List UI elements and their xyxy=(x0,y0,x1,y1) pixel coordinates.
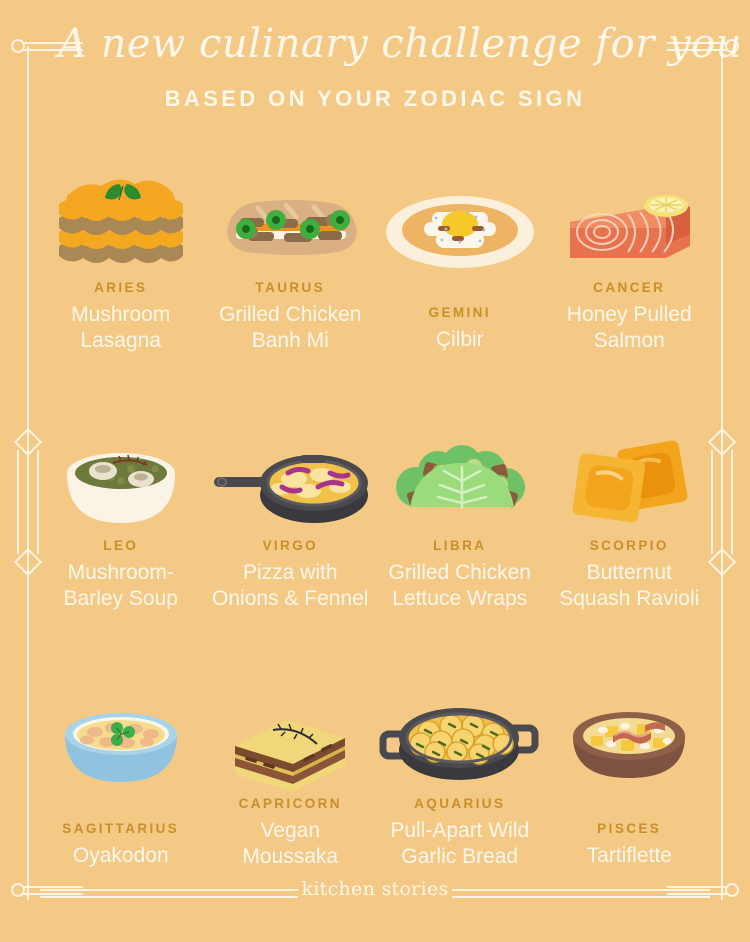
page-subtitle: BASED ON YOUR ZODIAC SIGN xyxy=(0,86,750,112)
zodiac-dish-grid: ARIES Mushroom Lasagna xyxy=(36,168,714,942)
zodiac-card-gemini[interactable]: GEMINI Çilbir xyxy=(375,168,545,426)
dish-line: Vegan xyxy=(210,818,372,844)
dish-line: Pull-Apart Wild xyxy=(379,818,541,844)
footer: kitchen stories xyxy=(0,862,750,918)
tartiflette-icon xyxy=(545,684,715,802)
lasagna-icon xyxy=(36,168,206,286)
dish-name: Pizza with Onions & Fennel xyxy=(206,560,376,612)
card-labels: LEO Mushroom- Barley Soup xyxy=(36,538,206,612)
zodiac-card-taurus[interactable]: TAURUS Grilled Chicken Banh Mi xyxy=(206,168,376,426)
card-labels: SCORPIO Butternut Squash Ravioli xyxy=(545,538,715,612)
zodiac-sign-label: SAGITTARIUS xyxy=(36,821,206,836)
card-labels: AQUARIUS Pull-Apart Wild Garlic Bread xyxy=(375,796,545,870)
dish-line: Lasagna xyxy=(40,328,202,354)
card-labels: GEMINI Çilbir xyxy=(375,305,545,353)
cilbir-icon xyxy=(375,168,545,286)
dish-line: Pizza with xyxy=(210,560,372,586)
zodiac-sign-label: GEMINI xyxy=(375,305,545,320)
ravioli-icon xyxy=(545,426,715,544)
salmon-icon xyxy=(545,168,715,286)
oyakodon-bowl-icon xyxy=(36,684,206,802)
lettuce-wrap-icon xyxy=(375,426,545,544)
zodiac-sign-label: CAPRICORN xyxy=(206,796,376,811)
dish-line: Honey Pulled xyxy=(549,302,711,328)
zodiac-sign-label: AQUARIUS xyxy=(375,796,545,811)
zodiac-card-scorpio[interactable]: SCORPIO Butternut Squash Ravioli xyxy=(545,426,715,684)
dish-name: Grilled Chicken Lettuce Wraps xyxy=(375,560,545,612)
dish-name: Mushroom Lasagna xyxy=(36,302,206,354)
header: A new culinary challenge for you BASED O… xyxy=(0,18,750,112)
zodiac-card-cancer[interactable]: CANCER Honey Pulled Salmon xyxy=(545,168,715,426)
dish-line: Lettuce Wraps xyxy=(379,586,541,612)
card-labels: TAURUS Grilled Chicken Banh Mi xyxy=(206,280,376,354)
dish-line: Grilled Chicken xyxy=(379,560,541,586)
dish-name: Çilbir xyxy=(375,327,545,353)
dish-line: Mushroom xyxy=(40,302,202,328)
zodiac-card-aries[interactable]: ARIES Mushroom Lasagna xyxy=(36,168,206,426)
dish-line: Banh Mi xyxy=(210,328,372,354)
zodiac-sign-label: SCORPIO xyxy=(545,538,715,553)
zodiac-card-libra[interactable]: LIBRA Grilled Chicken Lettuce Wraps xyxy=(375,426,545,684)
card-labels: LIBRA Grilled Chicken Lettuce Wraps xyxy=(375,538,545,612)
dish-line: Barley Soup xyxy=(40,586,202,612)
garlic-bread-pan-icon xyxy=(375,684,545,802)
page-title: A new culinary challenge for you xyxy=(0,18,750,70)
dish-name: Honey Pulled Salmon xyxy=(545,302,715,354)
zodiac-sign-label: LIBRA xyxy=(375,538,545,553)
grid-row: LEO Mushroom- Barley Soup xyxy=(36,426,714,684)
frame-bar xyxy=(17,450,19,554)
dish-line: Mushroom- xyxy=(40,560,202,586)
zodiac-card-virgo[interactable]: VIRGO Pizza with Onions & Fennel xyxy=(206,426,376,684)
card-labels: VIRGO Pizza with Onions & Fennel xyxy=(206,538,376,612)
frame-bar xyxy=(731,450,733,554)
zodiac-card-leo[interactable]: LEO Mushroom- Barley Soup xyxy=(36,426,206,684)
card-labels: CANCER Honey Pulled Salmon xyxy=(545,280,715,354)
dish-name: Grilled Chicken Banh Mi xyxy=(206,302,376,354)
dish-line: Onions & Fennel xyxy=(210,586,372,612)
zodiac-sign-label: LEO xyxy=(36,538,206,553)
zodiac-sign-label: VIRGO xyxy=(206,538,376,553)
dish-name: Butternut Squash Ravioli xyxy=(545,560,715,612)
dish-line: Çilbir xyxy=(379,327,541,353)
zodiac-sign-label: TAURUS xyxy=(206,280,376,295)
card-labels: CAPRICORN Vegan Moussaka xyxy=(206,796,376,870)
dish-line: Salmon xyxy=(549,328,711,354)
dish-line: Grilled Chicken xyxy=(210,302,372,328)
card-labels: ARIES Mushroom Lasagna xyxy=(36,280,206,354)
zodiac-sign-label: ARIES xyxy=(36,280,206,295)
dish-line: Squash Ravioli xyxy=(549,586,711,612)
zodiac-sign-label: PISCES xyxy=(545,821,715,836)
dish-name: Mushroom- Barley Soup xyxy=(36,560,206,612)
grid-row: ARIES Mushroom Lasagna xyxy=(36,168,714,426)
dish-line: Butternut xyxy=(549,560,711,586)
soup-bowl-icon xyxy=(36,426,206,544)
skillet-pizza-icon xyxy=(206,426,376,544)
moussaka-icon xyxy=(206,684,376,802)
zodiac-sign-label: CANCER xyxy=(545,280,715,295)
brand-name: kitchen stories xyxy=(0,878,750,900)
banh-mi-icon xyxy=(206,168,376,286)
